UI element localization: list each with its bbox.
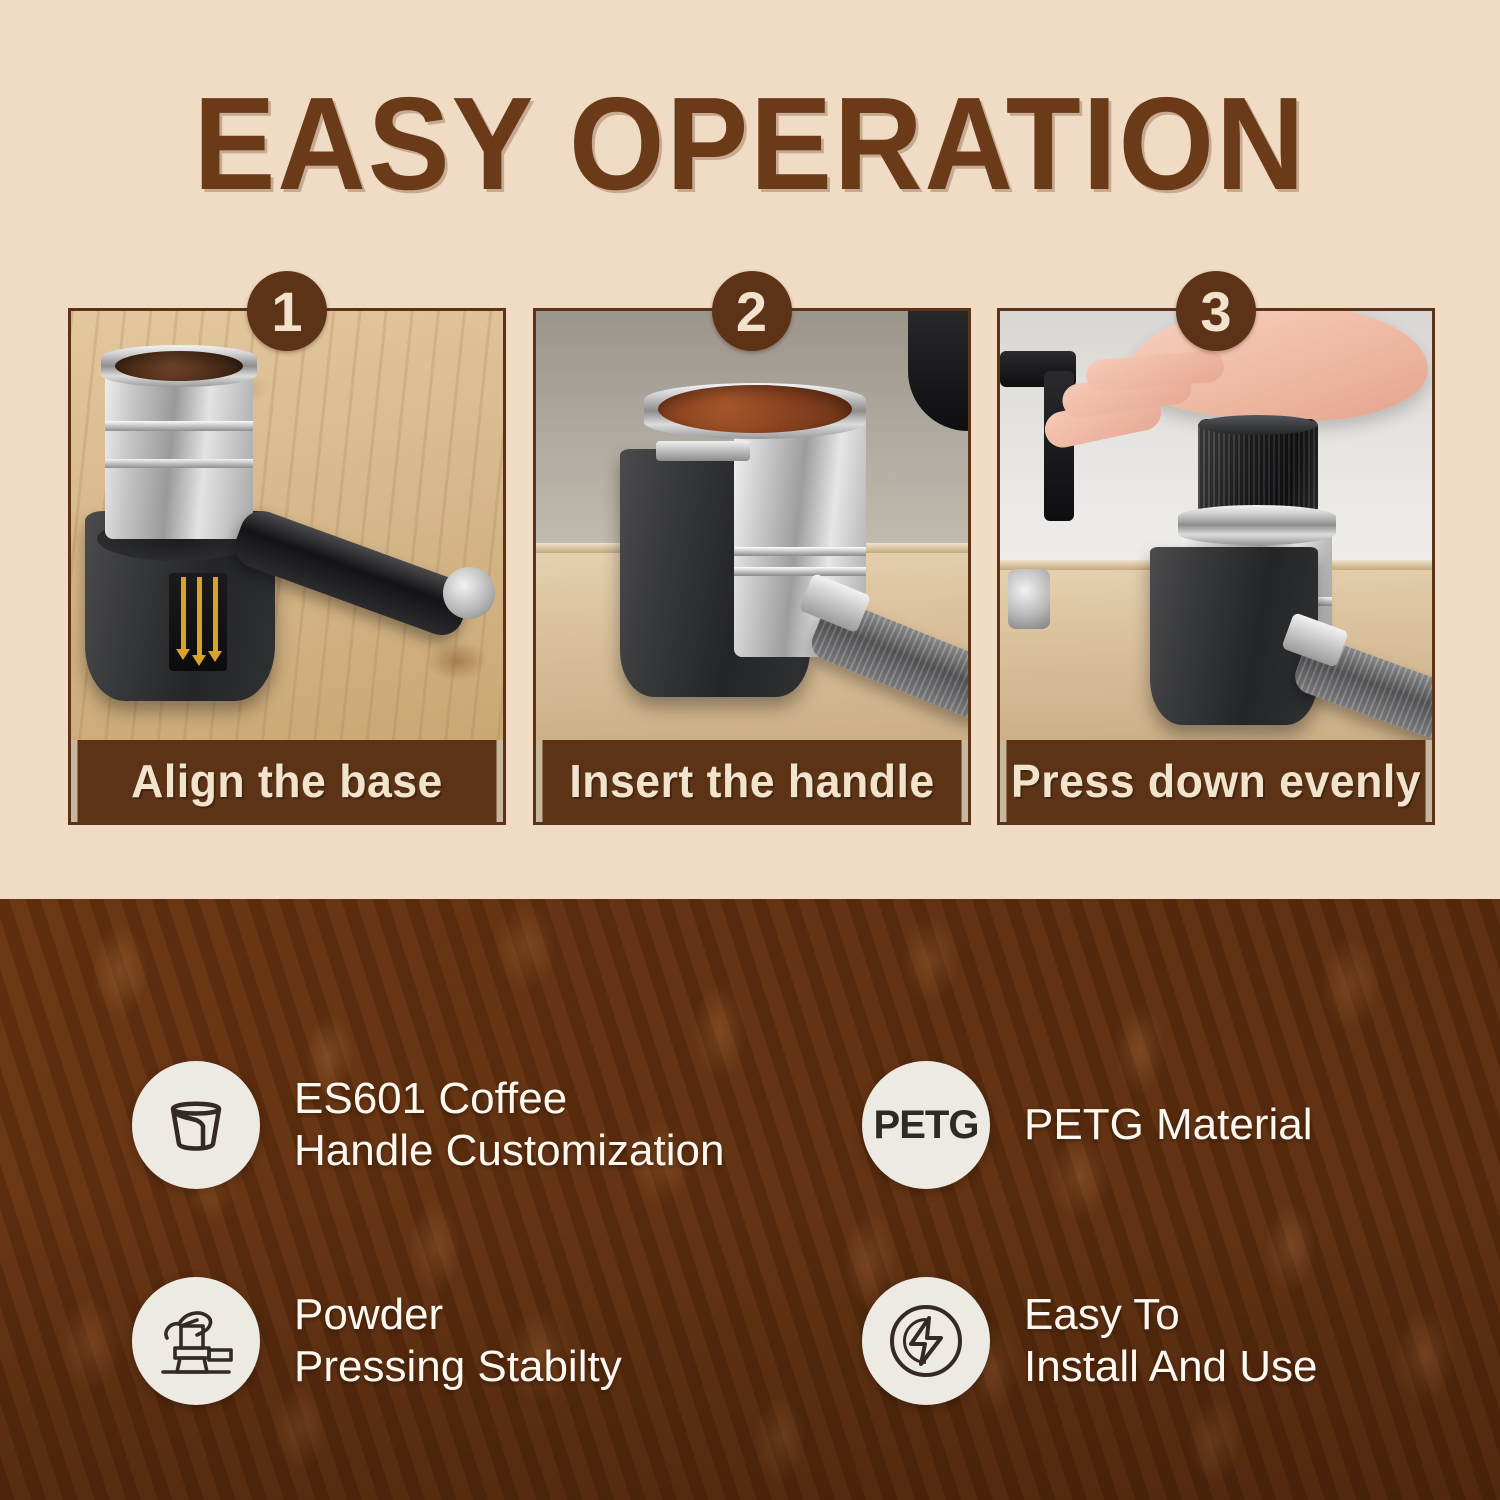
funnel-lug <box>656 441 750 461</box>
feature-label: ES601 Coffee Handle Customization <box>294 1073 724 1177</box>
feature-easy-to-install-and-use: Easy To Install And Use <box>862 1233 1492 1449</box>
feature-petg-material: PETG PETG Material <box>862 1017 1492 1233</box>
wood-knot <box>426 641 488 681</box>
step-photo-1 <box>71 311 503 740</box>
dosing-funnel-icon <box>132 1061 260 1189</box>
feature-label: Easy To Install And Use <box>1024 1289 1318 1393</box>
hand-tamping-icon <box>132 1277 260 1405</box>
page-title: EASY OPERATION <box>53 78 1448 210</box>
coffee-grounds <box>658 385 852 433</box>
step-caption-2: Insert the handle <box>542 740 961 822</box>
steps-row: 1 <box>68 268 1435 825</box>
portafilter-rib <box>105 459 253 468</box>
step-number-badge-1: 1 <box>247 271 327 351</box>
features-section: ES601 Coffee Handle Customization PETG P… <box>0 899 1500 1500</box>
step-photo-2 <box>536 311 968 740</box>
alignment-arrow <box>181 577 186 651</box>
step-number-badge-2: 2 <box>712 271 792 351</box>
step-card-1: 1 <box>68 308 506 825</box>
feature-powder-pressing-stability: Powder Pressing Stabilty <box>132 1233 862 1449</box>
machine-chrome-foot <box>1008 569 1050 629</box>
handle-end-cap <box>443 567 495 619</box>
step-caption-3: Press down evenly <box>1006 740 1425 822</box>
alignment-arrow <box>197 577 202 657</box>
scene-insert-the-handle <box>536 311 968 740</box>
alignment-arrow <box>213 577 218 653</box>
scene-press-down-evenly <box>1000 311 1432 740</box>
feature-label: PETG Material <box>1024 1099 1313 1151</box>
step-photo-3 <box>1000 311 1432 740</box>
lightning-bolt-icon <box>862 1277 990 1405</box>
scene-align-the-base <box>71 311 503 740</box>
feature-label: Powder Pressing Stabilty <box>294 1289 622 1393</box>
step-card-3: 3 <box>997 308 1435 825</box>
step-number-badge-3: 3 <box>1176 271 1256 351</box>
portafilter-rib <box>105 421 253 431</box>
coffee-grounds <box>115 351 243 381</box>
tamper-top-highlight <box>1198 415 1318 435</box>
petg-badge-icon: PETG <box>862 1061 990 1189</box>
step-caption-1: Align the base <box>77 740 496 822</box>
features-grid: ES601 Coffee Handle Customization PETG P… <box>0 899 1500 1500</box>
easy-operation-section: EASY OPERATION 1 <box>0 0 1500 899</box>
step-card-2: 2 <box>533 308 971 825</box>
portafilter-rib <box>734 567 866 576</box>
portafilter-rib <box>734 547 866 556</box>
portafilter-chrome-ring <box>1178 505 1336 545</box>
feature-es601-handle-customization: ES601 Coffee Handle Customization <box>132 1017 862 1233</box>
